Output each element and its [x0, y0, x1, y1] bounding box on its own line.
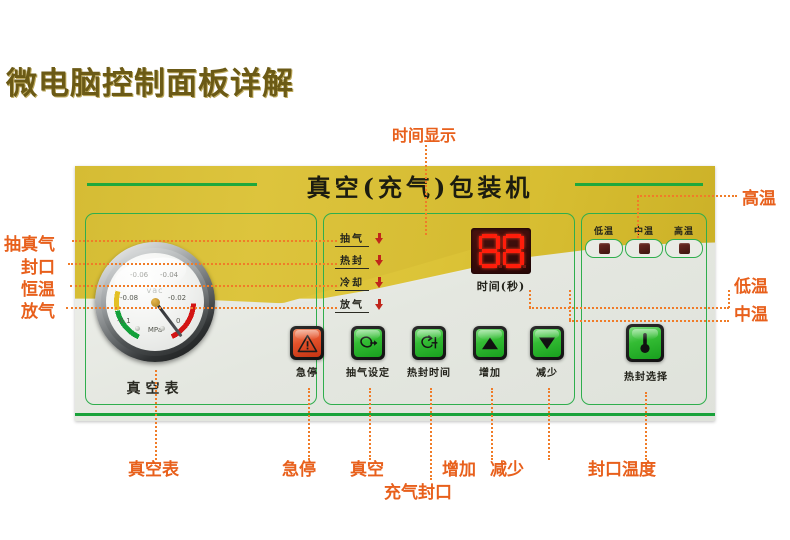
seal-loop-icon	[415, 329, 443, 357]
vacuum-set-label: 抽气设定	[337, 364, 399, 379]
leader-low-temp-horizontal	[529, 307, 729, 309]
status-label: 抽气	[335, 230, 369, 247]
leader-inflate-seal	[430, 388, 432, 480]
leader-high-temp-vertical	[637, 196, 639, 238]
time-display	[471, 228, 531, 274]
page-title: 微电脑控制面板详解	[6, 58, 294, 103]
annotation-time-display: 时间显示	[392, 122, 456, 146]
vacuum-loop-icon	[354, 329, 382, 357]
temp-lamp-low[interactable]: 低温	[585, 224, 623, 258]
gauge-screw-right	[160, 326, 165, 331]
temp-lamp-body	[585, 239, 623, 258]
decrease-button[interactable]	[530, 326, 564, 360]
annotation-inflate-seal: 充气封口	[384, 478, 452, 503]
seal-time-label: 热封时间	[398, 364, 460, 379]
temp-lamp-body	[625, 239, 663, 258]
gauge-brand-text: vac	[146, 286, 163, 295]
seven-segment-digit-2	[503, 234, 524, 268]
gauge-hub	[151, 298, 160, 307]
temp-lamp-high[interactable]: 高温	[665, 224, 703, 258]
down-arrow-led-icon	[375, 255, 384, 267]
vacuum-set-button[interactable]	[351, 326, 385, 360]
vacuum-gauge: -0.1 -0.08 -0.06 -0.04 -0.02 0 vac MPa	[95, 242, 215, 362]
panel-heading: 真空(充气)包装机	[261, 168, 579, 203]
header-rule-right	[575, 183, 703, 186]
leader-high-temp-horizontal	[637, 195, 737, 197]
leader-medium-temp-horizontal	[569, 320, 729, 322]
seal-select-button[interactable]	[626, 324, 664, 362]
status-label: 热封	[335, 252, 369, 269]
gauge-tick-label-4: -0.02	[168, 294, 186, 302]
warning-triangle-icon	[293, 329, 321, 357]
control-panel: 真空(充气)包装机 -0.1 -0.08 -0.06 -0.04 -0.02 0…	[75, 166, 715, 421]
temp-lamp-body	[665, 239, 703, 258]
annotation-vacuum-draw: 抽真气	[4, 230, 55, 255]
gauge-tick-label-1: -0.08	[120, 294, 138, 302]
emergency-stop-button[interactable]	[290, 326, 324, 360]
leader-medium-temp-vertical	[569, 290, 571, 320]
temp-lamp-label: 低温	[585, 224, 623, 237]
annotation-seal-temp: 封口温度	[588, 455, 656, 480]
seal-time-button[interactable]	[412, 326, 446, 360]
annotation-estop: 急停	[282, 455, 316, 480]
temp-lamp-label: 高温	[665, 224, 703, 237]
leader-seal-temp	[645, 392, 647, 460]
leader-vacuum-draw	[72, 240, 337, 242]
gauge-tick-label-3: -0.04	[160, 271, 178, 279]
annotation-high-temp: 高温	[742, 184, 776, 209]
annotation-decrease: 减少	[490, 455, 524, 480]
leader-time-display	[425, 145, 427, 235]
status-indicator-row-1: 热封	[335, 252, 384, 269]
emergency-stop-label: 急停	[280, 364, 334, 379]
leader-constant-temp	[70, 285, 337, 287]
leader-seal	[68, 263, 337, 265]
status-indicator-row-0: 抽气	[335, 230, 384, 247]
thermometer-icon	[629, 327, 661, 359]
seven-segment-digit-1	[479, 234, 500, 268]
led-icon	[639, 243, 650, 254]
leader-vacuum	[369, 388, 371, 460]
gauge-face: -0.1 -0.08 -0.06 -0.04 -0.02 0 vac MPa	[106, 253, 204, 351]
leader-decrease	[548, 388, 550, 460]
annotation-increase: 增加	[442, 455, 476, 480]
footer-rule-full	[75, 413, 715, 416]
down-arrow-led-icon	[375, 233, 384, 245]
up-triangle-icon	[476, 329, 504, 357]
annotation-vacuum: 真空	[350, 455, 384, 480]
decrease-label: 减少	[520, 364, 574, 379]
annotation-gauge: 真空表	[128, 455, 179, 480]
annotation-air-release: 放气	[21, 297, 55, 322]
leader-gauge	[155, 370, 157, 460]
down-arrow-led-icon	[375, 277, 384, 289]
leader-low-temp-riser	[728, 290, 730, 308]
status-label: 冷却	[335, 274, 369, 291]
status-indicator-row-3: 放气	[335, 296, 384, 313]
leader-low-temp-vertical	[529, 290, 531, 308]
leader-increase	[491, 388, 493, 460]
header-rule-left	[87, 183, 257, 186]
status-indicator-row-2: 冷却	[335, 274, 384, 291]
increase-label: 增加	[463, 364, 517, 379]
leader-air-release	[66, 307, 337, 309]
gauge-tick-label-0: -0.1	[117, 317, 131, 325]
down-arrow-led-icon	[375, 299, 384, 311]
annotation-medium-temp: 中温	[734, 300, 768, 325]
seal-select-label: 热封选择	[611, 368, 681, 383]
led-icon	[679, 243, 690, 254]
temp-lamp-label: 中温	[625, 224, 663, 237]
down-triangle-icon	[533, 329, 561, 357]
led-icon	[599, 243, 610, 254]
gauge-screw-left	[135, 326, 140, 331]
status-label: 放气	[335, 296, 369, 313]
gauge-tick-label-2: -0.06	[130, 271, 148, 279]
temp-lamp-medium[interactable]: 中温	[625, 224, 663, 258]
leader-estop	[308, 388, 310, 460]
gauge-tick-label-5: 0	[176, 317, 180, 325]
annotation-low-temp: 低温	[734, 272, 768, 297]
increase-button[interactable]	[473, 326, 507, 360]
